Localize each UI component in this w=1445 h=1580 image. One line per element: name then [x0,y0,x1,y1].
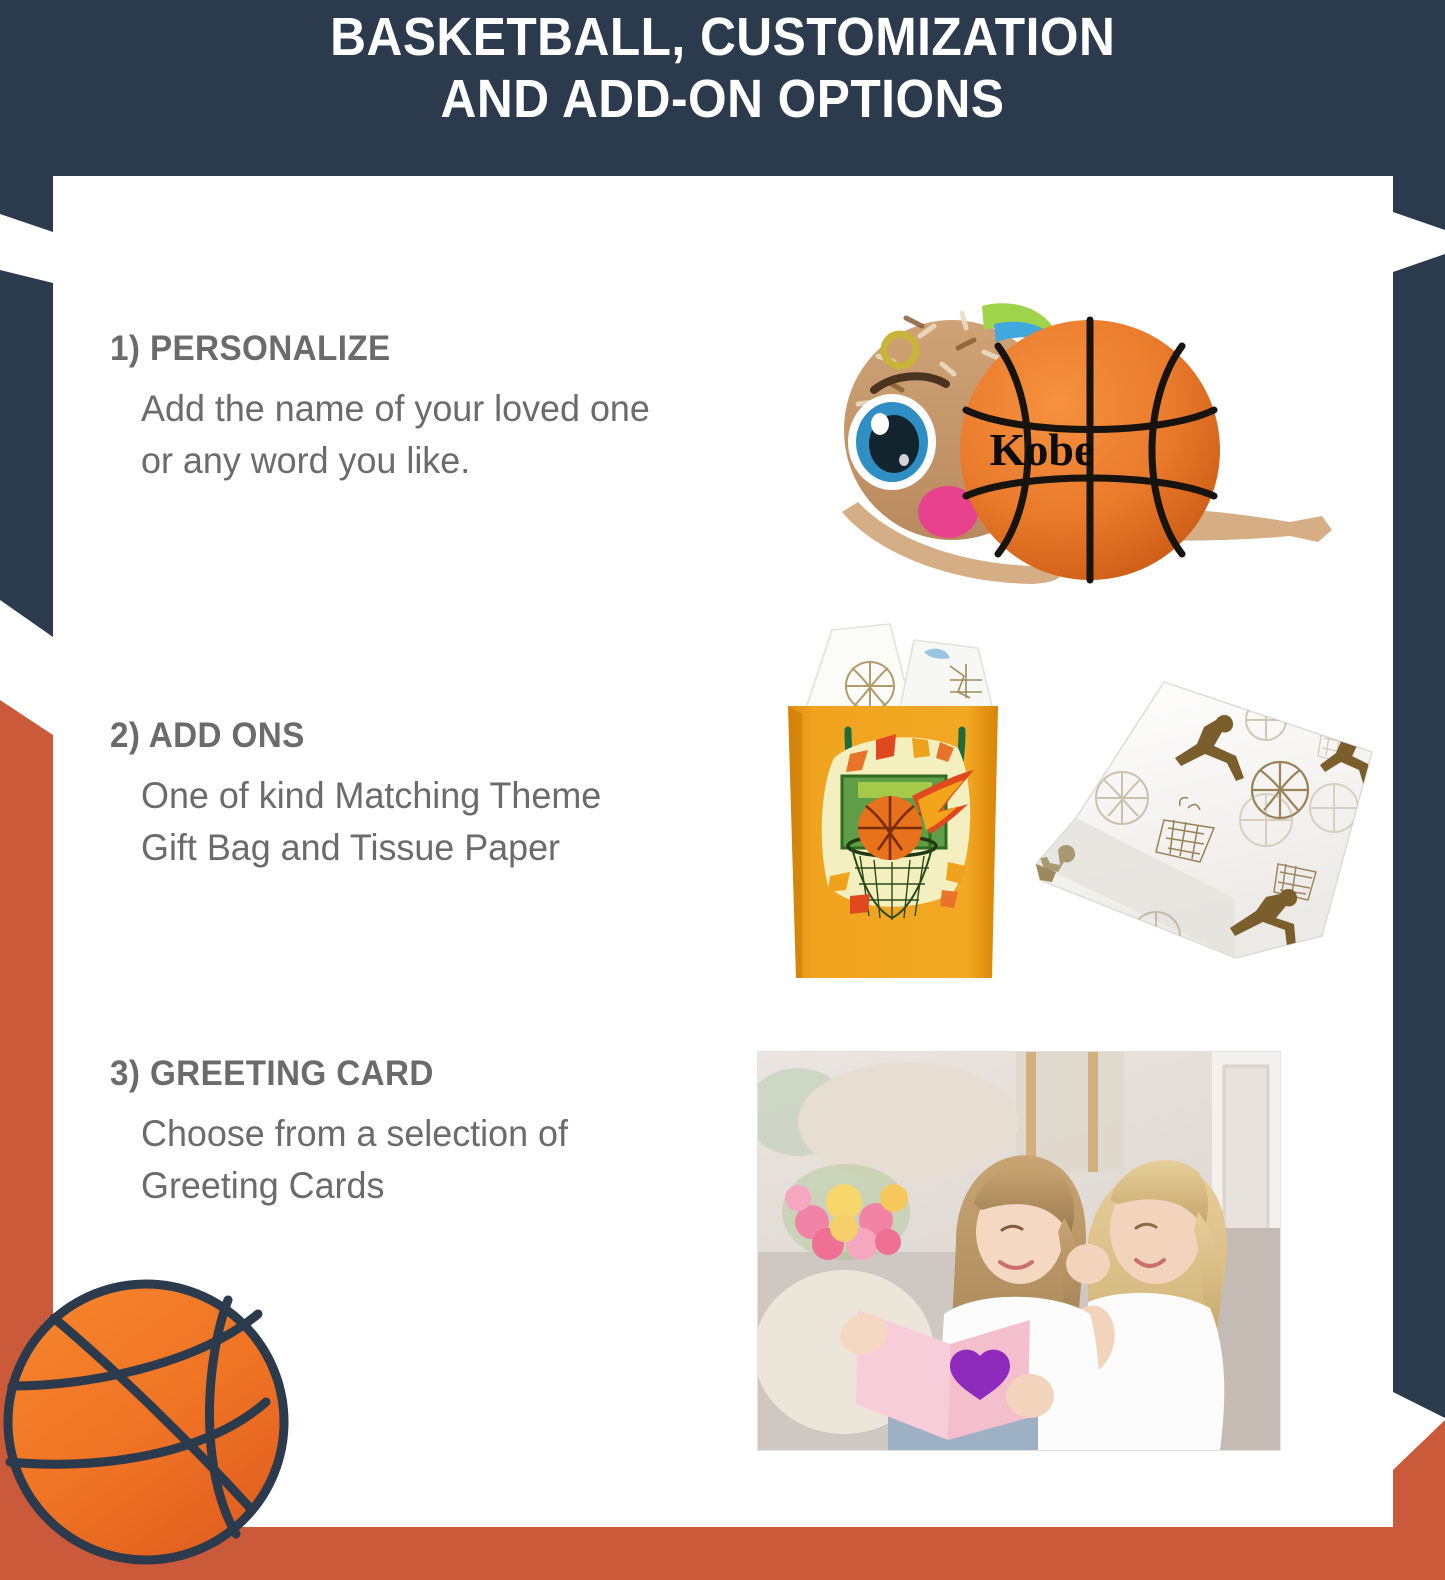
basketball-tissue-paper-illustration [1022,668,1384,970]
photo-shelf-post [1026,1052,1036,1172]
step-3-body-line-2: Greeting Cards [141,1160,789,1212]
gift-bag-tissue [804,624,994,714]
plush-basketball-toy-illustration: Kobe [770,290,1370,610]
page-header: BASKETBALL, CUSTOMIZATION AND ADD-ON OPT… [0,0,1445,146]
greeting-card-photo-illustration [758,1052,1280,1450]
gift-bag-side [788,706,802,978]
step-3-body: Choose from a selection of Greeting Card… [110,1108,789,1212]
header-title-line-1: BASKETBALL, CUSTOMIZATION [330,6,1115,68]
plush-basketball-toy: Kobe [770,290,1370,610]
header-title-line-2: AND ADD-ON OPTIONS [441,68,1005,130]
step-3-body-line-1: Choose from a selection of [141,1108,789,1160]
basketball-gift-bag-illustration [762,618,1024,990]
step-2-body: One of kind Matching Theme Gift Bag and … [110,770,789,874]
photo-hand-chin [1066,1244,1110,1284]
photo-flowers [782,1164,910,1260]
plush-eye [848,394,936,490]
basketball-corner-illustration [0,1262,306,1568]
basketball-gift-bag [762,618,1024,990]
infographic-page: BASKETBALL, CUSTOMIZATION AND ADD-ON OPT… [0,0,1445,1580]
step-1-body-line-1: Add the name of your loved one [141,383,789,435]
step-1-body-line-2: or any word you like. [141,435,789,487]
plush-personalized-name: Kobe [990,424,1095,475]
basketball-corner-graphic [0,1262,306,1568]
photo-shelf-post-2 [1088,1052,1098,1172]
photo-blanket [798,1062,1018,1182]
photo-hand-right [1006,1374,1054,1418]
step-3-greeting-card: 3) GREETING CARD Choose from a selection… [110,1054,810,1212]
step-2-body-line-2: Gift Bag and Tissue Paper [141,822,789,874]
step-2-title: 2) ADD ONS [110,716,775,756]
step-1-body: Add the name of your loved one or any wo… [110,383,789,487]
basketball-tissue-paper [1022,668,1384,970]
step-1-title: 1) PERSONALIZE [110,329,775,369]
plush-basketball: Kobe [960,320,1220,580]
greeting-card-photo [758,1052,1280,1450]
gift-bag-hoop-artwork [822,734,974,920]
step-2-add-ons: 2) ADD ONS One of kind Matching Theme Gi… [110,716,810,874]
step-3-title: 3) GREETING CARD [110,1054,775,1094]
step-1-personalize: 1) PERSONALIZE Add the name of your love… [110,329,810,487]
step-2-body-line-1: One of kind Matching Theme [141,770,789,822]
